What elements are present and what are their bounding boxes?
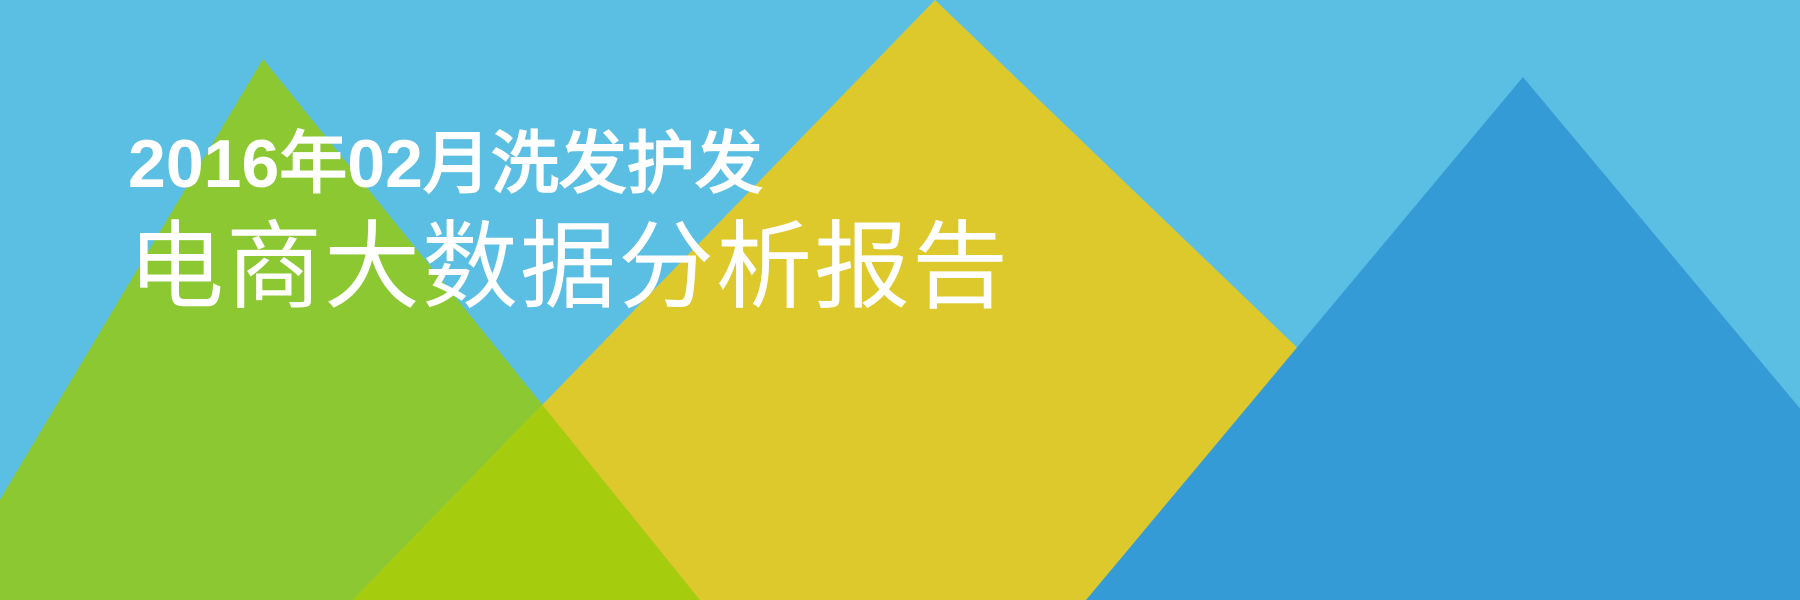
decorative-mountain-artwork <box>0 0 1800 600</box>
slide-canvas: 2016年02月洗发护发 电商大数据分析报告 <box>0 0 1800 600</box>
